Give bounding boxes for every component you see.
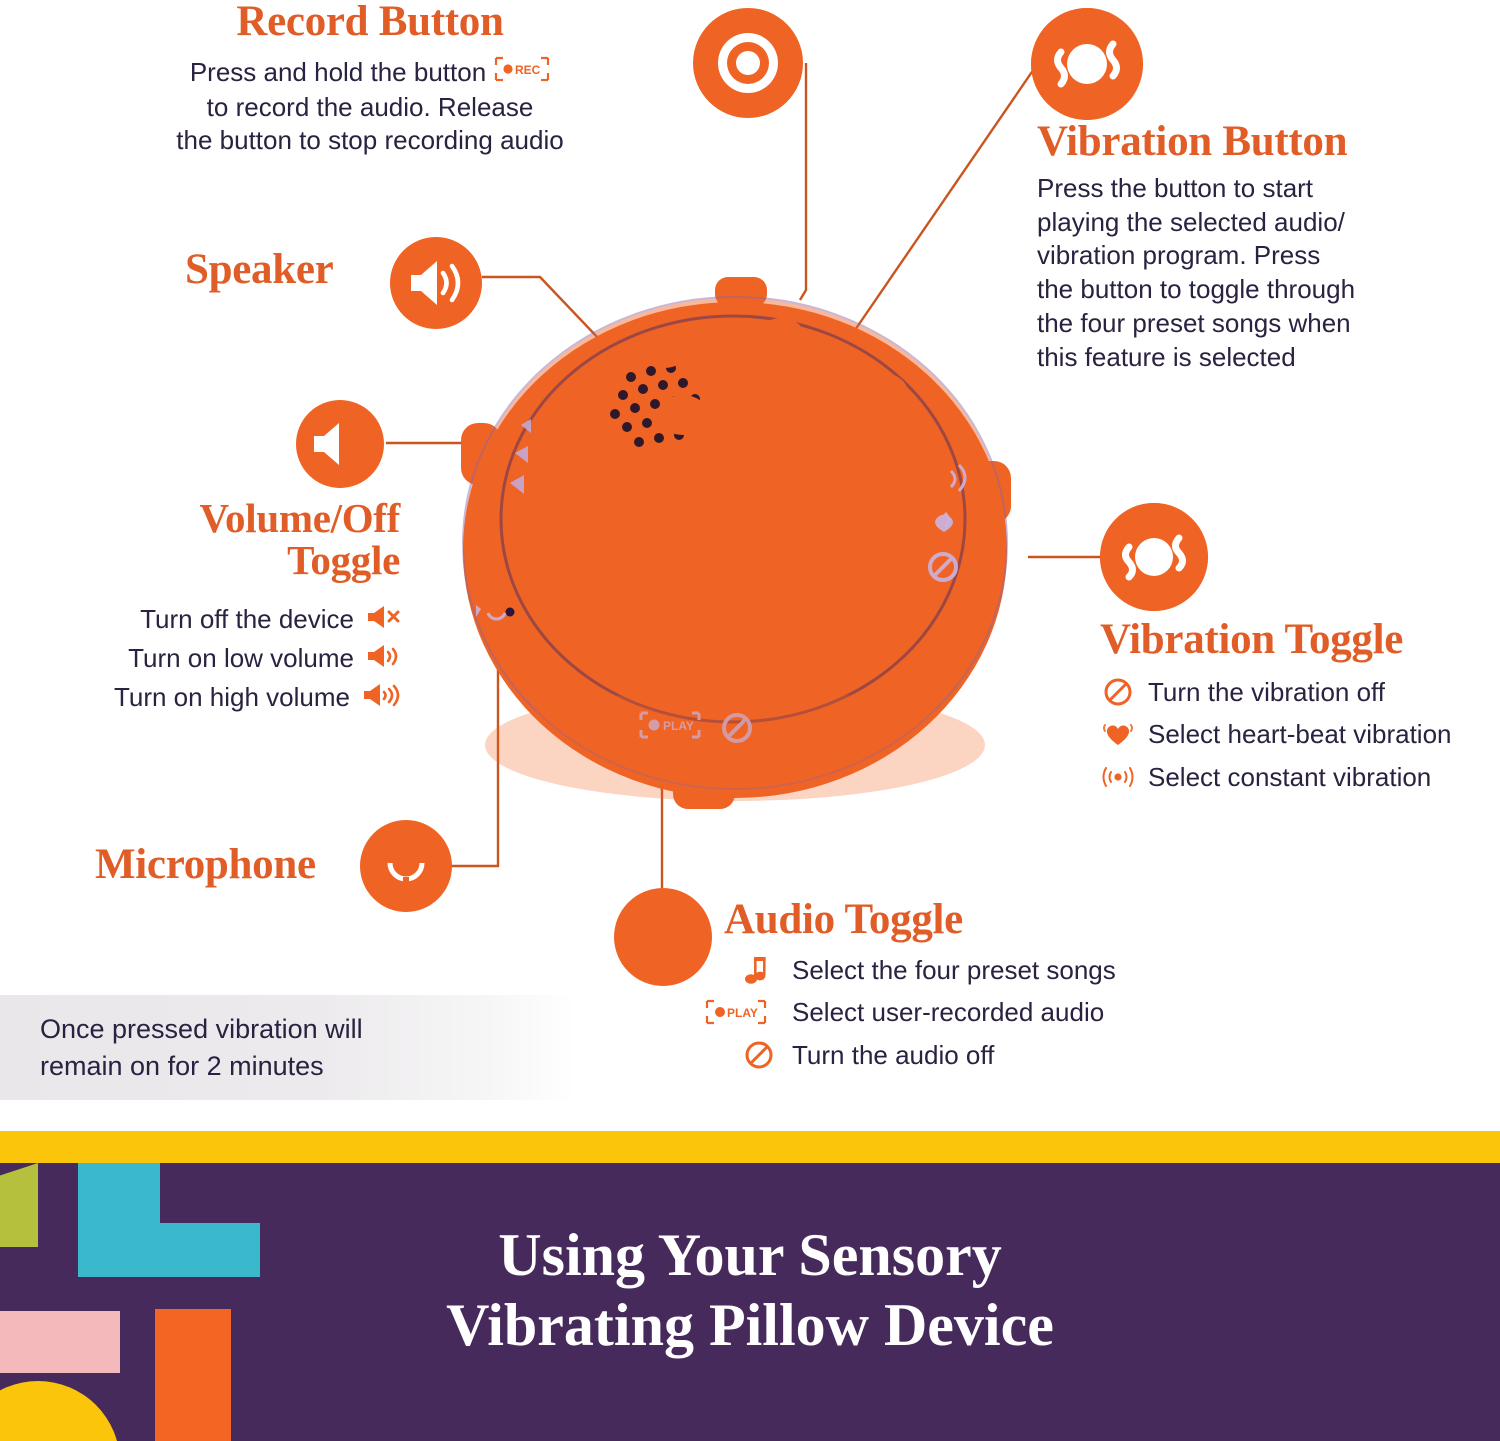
volume-item-low-label: Turn on low volume bbox=[128, 643, 354, 674]
footer-title: Using Your Sensory Vibrating Pillow Devi… bbox=[0, 1221, 1500, 1360]
callout-vibration-toggle: Vibration Toggle Turn the vibration off bbox=[1100, 618, 1490, 803]
play-bracket-icon: PLAY bbox=[692, 996, 780, 1028]
speaker-plus-minus-icon[interactable] bbox=[296, 400, 384, 488]
vibration-item-constant: Select constant vibration bbox=[1100, 761, 1490, 794]
svg-text:REC: REC bbox=[515, 63, 541, 77]
volume-title-line-1: Volume/Off bbox=[20, 498, 400, 540]
callout-vibration-button: Vibration Button Press the button to sta… bbox=[1037, 120, 1487, 375]
vibration-disc-icon-right[interactable] bbox=[1100, 503, 1208, 611]
note-box: Once pressed vibration will remain on fo… bbox=[0, 995, 575, 1100]
vibration-item-off: Turn the vibration off bbox=[1100, 676, 1490, 709]
vib-body-line-1: Press the button to start bbox=[1037, 172, 1487, 206]
audio-item-off-label: Turn the audio off bbox=[792, 1039, 994, 1072]
volume-item-high-label: Turn on high volume bbox=[114, 682, 350, 713]
audio-toggle-title: Audio Toggle bbox=[724, 898, 1284, 942]
vib-body-line-3: vibration program. Press bbox=[1037, 239, 1487, 273]
record-body-line-1: Press and hold the button bbox=[190, 56, 486, 90]
svg-text:PLAY: PLAY bbox=[727, 1006, 758, 1020]
audio-item-presets: svg rect,svg ellipse{fill:#ef6424} Selec… bbox=[734, 954, 1284, 987]
record-body-line-3: the button to stop recording audio bbox=[60, 124, 680, 158]
vibration-disc-icon-top[interactable] bbox=[1031, 8, 1143, 120]
record-body-line-2: to record the audio. Release bbox=[60, 91, 680, 125]
vibration-item-constant-label: Select constant vibration bbox=[1148, 761, 1431, 794]
audio-item-off: Turn the audio off bbox=[738, 1039, 1284, 1072]
speaker-title: Speaker bbox=[185, 248, 333, 292]
speaker-low-icon bbox=[366, 643, 400, 674]
volume-title-line-2: Toggle bbox=[20, 540, 400, 582]
constant-wave-icon bbox=[1100, 761, 1136, 793]
record-button-title: Record Button bbox=[60, 0, 680, 44]
footer-title-line-2: Vibrating Pillow Device bbox=[0, 1291, 1500, 1361]
prohibition-icon-audio bbox=[738, 1039, 780, 1071]
callout-volume-toggle: Volume/Off Toggle Turn off the device Tu… bbox=[20, 498, 400, 721]
vibration-toggle-title: Vibration Toggle bbox=[1100, 618, 1490, 662]
vibration-item-heartbeat: Select heart-beat vibration bbox=[1100, 718, 1490, 751]
speaker-icon[interactable] bbox=[390, 237, 482, 329]
rec-bracket-icon: REC bbox=[494, 56, 550, 91]
vib-body-line-4: the button to toggle through bbox=[1037, 273, 1487, 307]
leader-record bbox=[800, 63, 806, 300]
footer-banner: Using Your Sensory Vibrating Pillow Devi… bbox=[0, 1131, 1500, 1441]
volume-item-low: Turn on low volume bbox=[20, 643, 400, 674]
volume-item-high: Turn on high volume bbox=[20, 682, 400, 713]
footer-title-line-1: Using Your Sensory bbox=[0, 1221, 1500, 1291]
audio-item-recorded: PLAY Select user-recorded audio bbox=[692, 996, 1284, 1029]
vibration-item-off-label: Turn the vibration off bbox=[1148, 676, 1385, 709]
device-illustration: PLAY bbox=[455, 275, 1015, 820]
callout-audio-toggle: Audio Toggle svg rect,svg ellipse{fill:#… bbox=[724, 898, 1284, 1081]
shape-yellow-circle bbox=[0, 1381, 120, 1441]
infographic-canvas: PLAY Record Button Press and hold the bu… bbox=[0, 0, 1500, 1441]
heartbeat-icon bbox=[1100, 718, 1136, 750]
speaker-high-icon bbox=[362, 682, 400, 713]
vibration-item-heartbeat-label: Select heart-beat vibration bbox=[1148, 718, 1452, 751]
music-note-icon[interactable] bbox=[614, 888, 712, 986]
speaker-mute-icon bbox=[366, 604, 400, 635]
microphone-title: Microphone bbox=[95, 843, 316, 887]
audio-item-recorded-label: Select user-recorded audio bbox=[792, 996, 1104, 1029]
record-target-icon[interactable] bbox=[693, 8, 803, 118]
note-line-1: Once pressed vibration will bbox=[40, 1014, 363, 1044]
music-note-small-icon: svg rect,svg ellipse{fill:#ef6424} bbox=[734, 954, 780, 986]
note-line-2: remain on for 2 minutes bbox=[40, 1051, 324, 1081]
vib-body-line-2: playing the selected audio/ bbox=[1037, 206, 1487, 240]
audio-item-presets-label: Select the four preset songs bbox=[792, 954, 1116, 987]
volume-item-off: Turn off the device bbox=[20, 604, 400, 635]
prohibition-icon bbox=[1100, 676, 1136, 708]
callout-record-button: Record Button Press and hold the button … bbox=[60, 0, 680, 158]
vibration-button-title: Vibration Button bbox=[1037, 120, 1487, 164]
vib-body-line-5: the four preset songs when bbox=[1037, 307, 1487, 341]
footer-yellow-bar bbox=[0, 1131, 1500, 1163]
volume-item-off-label: Turn off the device bbox=[140, 604, 354, 635]
vib-body-line-6: this feature is selected bbox=[1037, 341, 1487, 375]
microphone-icon[interactable] bbox=[360, 820, 452, 912]
